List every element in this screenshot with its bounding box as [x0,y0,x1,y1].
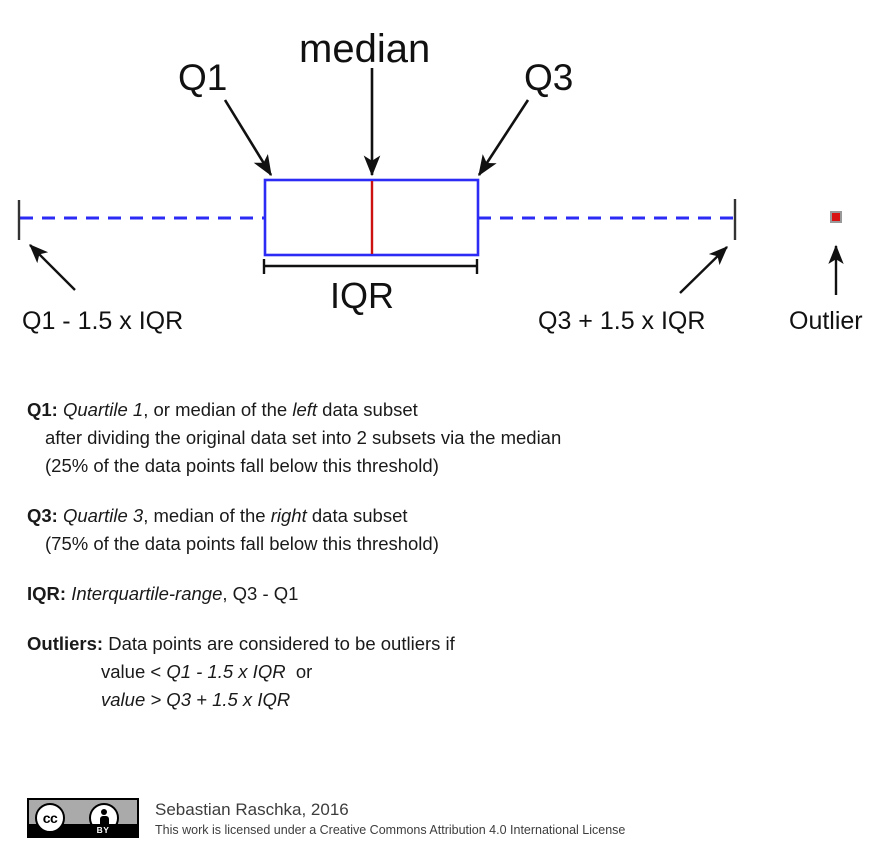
label-upper-fence: Q3 + 1.5 x IQR [538,307,705,335]
text-run: Quartile 3 [63,505,143,526]
label-iqr: IQR [330,275,394,316]
arrow-upper-fence [680,247,727,293]
definition-line: after dividing the original data set int… [0,424,888,452]
label-lower-fence: Q1 - 1.5 x IQR [22,307,183,335]
footer-license: This work is licensed under a Creative C… [155,821,625,839]
text-run: Data points are considered to be outlier… [103,633,455,654]
iqr-definition: IQR: Interquartile-range, Q3 - Q1 [0,580,888,608]
text-run: IQR: [27,583,66,604]
boxplot-svg: Q1 median Q3 IQR Q1 - 1.5 x IQR Q3 + 1.5… [0,0,888,360]
text-run: right [271,505,307,526]
definition-line: (75% of the data points fall below this … [0,530,888,558]
text-run: Outliers: [27,633,103,654]
cc-icon: cc [35,803,65,833]
text-run: Q3: [27,505,58,526]
arrow-lower-fence [30,245,75,290]
label-q3: Q3 [524,57,573,98]
arrow-q1 [225,100,271,175]
definition-line: IQR: Interquartile-range, Q3 - Q1 [0,580,888,608]
q1-definition: Q1: Quartile 1, or median of the left da… [0,396,888,480]
definition-line: Q3: Quartile 3, median of the right data… [0,502,888,530]
outlier-marker [831,212,841,222]
label-median: median [299,27,430,71]
definition-line: Outliers: Data points are considered to … [0,630,888,658]
text-run: , or median of the [143,399,292,420]
label-q1: Q1 [178,57,227,98]
text-run: Quartile 1 [63,399,143,420]
definition-line: Q1: Quartile 1, or median of the left da… [0,396,888,424]
text-run: , median of the [143,505,271,526]
creative-commons-badge: cc BY [27,798,139,838]
footer-text: Sebastian Raschka, 2016 This work is lic… [155,798,625,839]
text-run: Q1: [27,399,58,420]
text-run: after dividing the original data set int… [45,427,561,448]
outliers-definition: Outliers: Data points are considered to … [0,630,888,714]
arrow-q3 [479,100,528,175]
text-run: left [292,399,317,420]
footer: cc BY Sebastian Raschka, 2016 This work … [27,798,625,839]
text-run: (75% of the data points fall below this … [45,533,439,554]
definitions-section: Q1: Quartile 1, or median of the left da… [0,396,888,736]
boxplot-figure: Q1 median Q3 IQR Q1 - 1.5 x IQR Q3 + 1.5… [0,0,888,360]
text-run: (25% of the data points fall below this … [45,455,439,476]
text-run: value > Q3 + 1.5 x IQR [101,689,290,710]
text-run: data subset [307,505,408,526]
definition-line: (25% of the data points fall below this … [0,452,888,480]
definition-line: value < Q1 - 1.5 x IQR or [0,658,888,686]
text-run: Interquartile-range [71,583,222,604]
text-run: data subset [317,399,418,420]
by-label: BY [69,824,137,836]
text-run: Q1 - 1.5 x IQR [166,661,285,682]
text-run: value < [101,661,166,682]
text-run: , Q3 - Q1 [222,583,298,604]
footer-author: Sebastian Raschka, 2016 [155,799,625,821]
definition-line: value > Q3 + 1.5 x IQR [0,686,888,714]
label-outlier: Outlier [789,307,863,335]
text-run: or [286,661,313,682]
q3-definition: Q3: Quartile 3, median of the right data… [0,502,888,558]
